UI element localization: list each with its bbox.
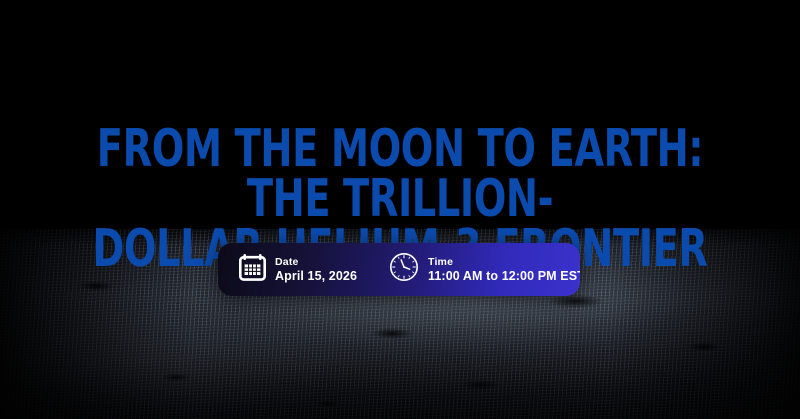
calendar-icon: [239, 253, 266, 286]
date-value: April 15, 2026: [275, 269, 357, 283]
time-value: 11:00 AM to 12:00 PM EST: [428, 269, 580, 283]
clock-icon: [389, 252, 419, 287]
info-item-date: Date April 15, 2026: [218, 243, 357, 296]
webinar-banner: FROM THE MOON TO EARTH: THE TRILLION- DO…: [0, 0, 800, 419]
time-label: Time: [428, 256, 580, 268]
event-info-bar: Date April 15, 2026: [218, 243, 580, 296]
info-item-time: Time 11:00 AM to 12:00 PM EST: [357, 243, 580, 296]
date-label: Date: [275, 256, 357, 268]
